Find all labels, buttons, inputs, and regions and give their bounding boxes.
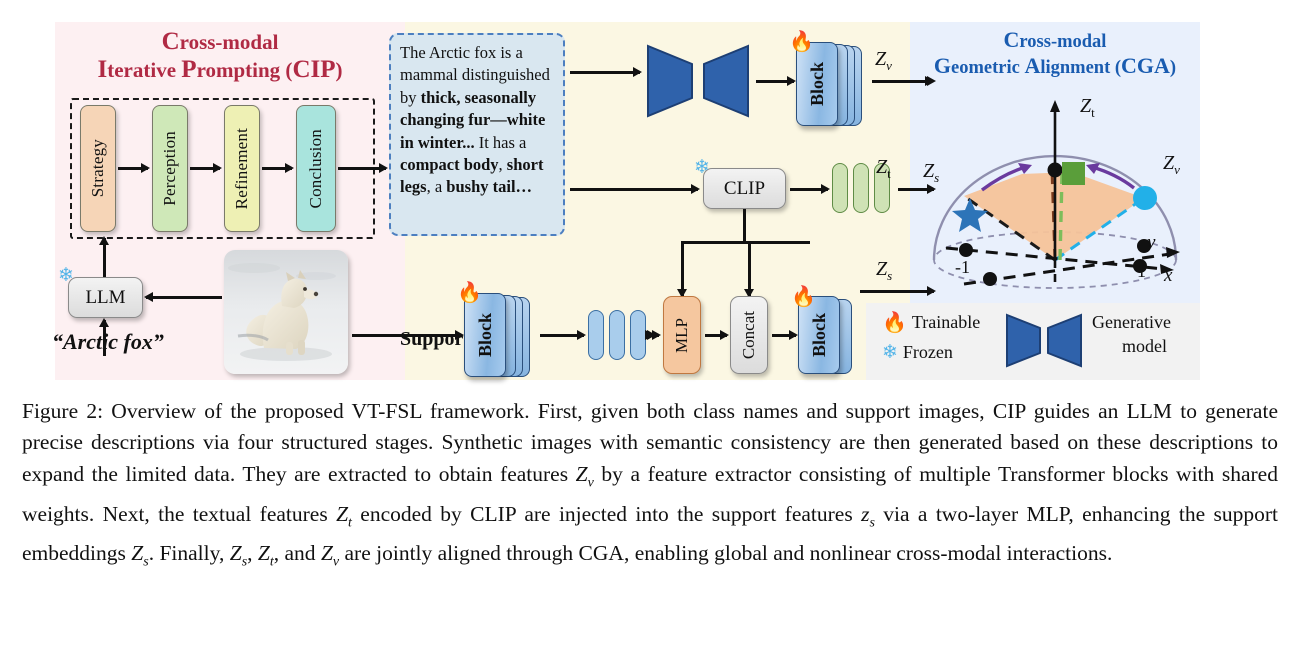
- arrow-refinement-to-conclusion: [262, 167, 292, 170]
- concat-box[interactable]: Concat: [730, 296, 768, 374]
- llm-box[interactable]: LLM: [68, 277, 143, 318]
- cip-stage-conclusion[interactable]: Conclusion: [296, 105, 336, 232]
- clip-box[interactable]: CLIP: [703, 168, 786, 209]
- legend-generative-line1: Generative: [1092, 310, 1197, 334]
- zt-output-label: Zt: [876, 156, 891, 182]
- snowflake-icon: ❄: [58, 266, 74, 285]
- arrow-perception-to-refinement: [190, 167, 220, 170]
- concat-label: Concat: [739, 311, 759, 359]
- figure-caption: Figure 2: Overview of the proposed VT-FS…: [22, 396, 1278, 578]
- arrow-clip-to-concat: [748, 241, 751, 296]
- cip-stage-label: Conclusion: [306, 129, 326, 208]
- feature-pill: [853, 163, 869, 213]
- arrow-concat-to-fusion-block: [772, 334, 796, 337]
- cip-stage-refinement[interactable]: Refinement: [224, 105, 260, 232]
- clip-branch-vertical: [743, 209, 746, 241]
- support-image: [224, 250, 348, 374]
- caption-label: Figure 2:: [22, 399, 103, 423]
- legend-generative-icon: [1005, 313, 1083, 368]
- arrow-description-to-generative-model: [570, 71, 640, 74]
- arrow-clip-to-text-features: [790, 188, 828, 191]
- legend-generative-label: Generative model: [1092, 310, 1197, 358]
- cga-axis-x-label: x: [1164, 265, 1172, 287]
- clip-label: CLIP: [724, 178, 765, 200]
- class-name-prompt: “Arctic fox”: [52, 329, 164, 355]
- cga-axis-y-label: y: [1147, 232, 1155, 254]
- visual-block-label: Block: [807, 62, 828, 106]
- cip-stage-strategy[interactable]: Strategy: [80, 105, 116, 232]
- cip-stage-label: Strategy: [88, 139, 108, 197]
- generated-description-box: The Arctic fox is a mammal distinguished…: [389, 33, 565, 236]
- arrow-clip-to-mlp: [681, 241, 684, 296]
- cip-stage-label: Refinement: [232, 128, 252, 209]
- cga-zs-label: Zs: [923, 160, 939, 186]
- cga-tick-minus1: -1: [955, 257, 970, 278]
- support-transformer-block-stack[interactable]: Block: [464, 293, 536, 377]
- mlp-label: MLP: [672, 318, 692, 353]
- description-text: The Arctic fox is a mammal distinguished…: [400, 43, 550, 196]
- generative-model-icon: [646, 42, 750, 120]
- llm-label: LLM: [85, 287, 125, 309]
- arrow-strategy-to-perception: [118, 167, 148, 170]
- snowflake-icon: ❄: [882, 341, 898, 364]
- arrow-llm-to-cip: [103, 238, 106, 277]
- arrow-mlp-to-concat: [705, 334, 727, 337]
- feature-pill: [832, 163, 848, 213]
- legend-trainable-label: Trainable: [912, 312, 980, 333]
- cip-stage-label: Perception: [160, 131, 180, 206]
- arrow-features-to-mlp: [651, 334, 659, 337]
- visual-transformer-block-stack[interactable]: Block: [796, 42, 868, 126]
- cga-title: Cross-modal Geometric Alignment (CGA): [912, 28, 1198, 80]
- legend-frozen-label: Frozen: [903, 342, 953, 363]
- mlp-box[interactable]: MLP: [663, 296, 701, 374]
- flame-icon: 🔥: [791, 287, 816, 307]
- snowflake-icon: ❄: [694, 158, 710, 177]
- feature-pill: [609, 310, 625, 360]
- arrow-description-to-clip: [570, 188, 698, 191]
- figure-root: Cross-modal Iterative Prompting (CIP) St…: [0, 0, 1299, 663]
- cga-tick-1: 1: [1137, 261, 1146, 282]
- flame-icon: 🔥: [457, 283, 482, 303]
- support-block-label: Block: [475, 313, 496, 357]
- arrow-conclusion-to-description: [338, 167, 386, 170]
- legend-generative-line2: model: [1092, 334, 1197, 358]
- flame-icon: 🔥: [789, 32, 814, 52]
- zs-output-label: Zs: [876, 258, 892, 284]
- zv-output-label: Zv: [875, 48, 892, 74]
- cip-stage-perception[interactable]: Perception: [152, 105, 188, 232]
- arrow-support-block-to-features: [540, 334, 584, 337]
- arrow-image-to-llm: [146, 296, 222, 299]
- cga-zv-label: Zv: [1163, 152, 1180, 178]
- flame-icon: 🔥: [882, 310, 907, 335]
- feature-pill: [630, 310, 646, 360]
- cga-zt-label: Zt: [1080, 95, 1095, 121]
- legend-trainable: 🔥 Trainable: [882, 310, 980, 335]
- cip-title-line1-rest: ross-modal: [180, 30, 279, 54]
- fusion-block-label: Block: [809, 313, 830, 357]
- legend-frozen: ❄ Frozen: [882, 341, 953, 364]
- cip-title: Cross-modal Iterative Prompting (CIP): [60, 28, 380, 84]
- clip-branch-horizontal: [682, 241, 810, 244]
- feature-pill: [588, 310, 604, 360]
- support-feature-pills: [588, 310, 646, 360]
- arrow-image-to-support-block: [352, 334, 462, 337]
- arrow-genmodel-to-block: [756, 80, 794, 83]
